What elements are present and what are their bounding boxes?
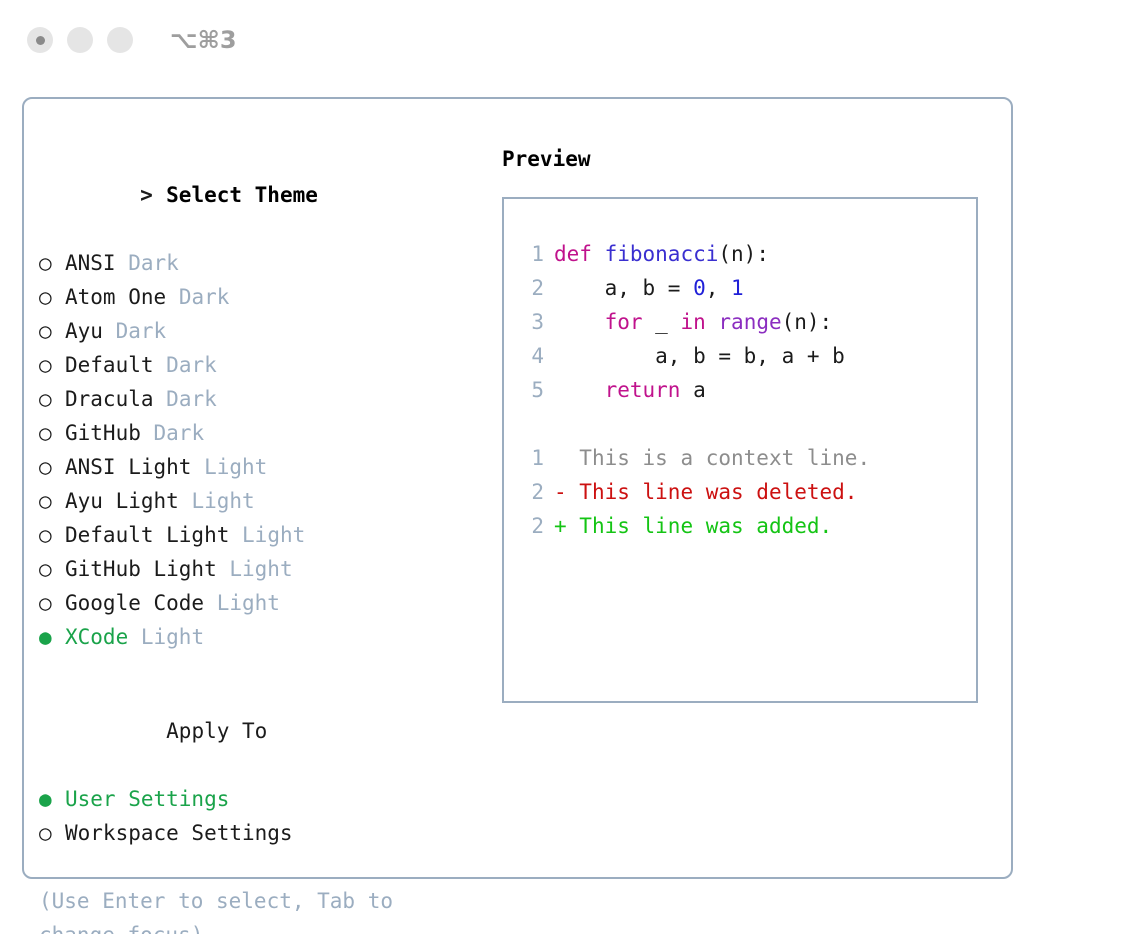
theme-kind-label: Light <box>204 455 267 479</box>
code-token: range <box>718 310 781 334</box>
diff-marker-icon <box>554 446 567 470</box>
radio-unselected-icon: ○ <box>39 382 65 416</box>
theme-kind-label: Dark <box>179 285 230 309</box>
code-token: def <box>554 242 592 266</box>
radio-unselected-icon: ○ <box>39 314 65 348</box>
radio-unselected-icon: ○ <box>39 246 65 280</box>
window-light-third-icon[interactable] <box>107 27 133 53</box>
radio-unselected-icon: ○ <box>39 586 65 620</box>
diff-marker-icon: - <box>554 480 567 504</box>
theme-label-gap <box>141 421 154 445</box>
code-token: (n): <box>718 242 769 266</box>
theme-list-item[interactable]: ○Dracula Dark <box>39 382 489 416</box>
code-token: a, b = <box>554 276 693 300</box>
theme-name-label: Google Code <box>65 591 204 615</box>
code-token: return <box>605 378 681 402</box>
code-token: for <box>605 310 643 334</box>
code-sample: 1def fibonacci(n):2 a, b = 0, 13 for _ i… <box>504 237 976 407</box>
theme-kind-label: Dark <box>166 353 217 377</box>
theme-name-label: Ayu <box>65 319 103 343</box>
theme-kind-label: Light <box>229 557 292 581</box>
window-light-second-icon[interactable] <box>67 27 93 53</box>
apply-to-list: ●User Settings○Workspace Settings <box>39 782 489 850</box>
diff-sample: 1 This is a context line.2- This line wa… <box>504 441 976 543</box>
preview-box: 1def fibonacci(n):2 a, b = 0, 13 for _ i… <box>502 197 978 703</box>
theme-label-gap <box>166 285 179 309</box>
theme-kind-label: Light <box>191 489 254 513</box>
apply-to-name-label: Workspace Settings <box>65 821 293 845</box>
radio-unselected-icon: ○ <box>39 280 65 314</box>
theme-kind-label: Light <box>141 625 204 649</box>
code-token: in <box>680 310 705 334</box>
radio-unselected-icon: ○ <box>39 348 65 382</box>
diff-line-number: 2 <box>518 475 544 509</box>
diff-line: 1 This is a context line. <box>504 441 976 475</box>
code-line: 3 for _ in range(n): <box>504 305 976 339</box>
code-token <box>706 310 719 334</box>
theme-label-gap <box>217 557 230 581</box>
code-diff-spacer <box>504 407 976 441</box>
diff-line-text: This line was deleted. <box>567 480 858 504</box>
diff-line-number: 2 <box>518 509 544 543</box>
theme-picker-column: >Select Theme ○ANSI Dark○Atom One Dark○A… <box>39 144 489 934</box>
main-panel: >Select Theme ○ANSI Dark○Atom One Dark○A… <box>22 97 1013 879</box>
code-line: 4 a, b = b, a + b <box>504 339 976 373</box>
theme-label-gap <box>154 387 167 411</box>
code-token: 0 <box>693 276 706 300</box>
theme-name-label: ANSI Light <box>65 455 191 479</box>
theme-list-item[interactable]: ○Default Dark <box>39 348 489 382</box>
select-theme-heading: >Select Theme <box>39 144 489 246</box>
code-token: a, b = b, a + b <box>554 344 845 368</box>
keyboard-hint-text: (Use Enter to select, Tab to change focu… <box>39 884 459 934</box>
theme-label-gap <box>103 319 116 343</box>
code-line-number: 5 <box>518 373 544 407</box>
window-light-active-icon[interactable] <box>27 27 53 53</box>
theme-list: ○ANSI Dark○Atom One Dark○Ayu Dark○Defaul… <box>39 246 489 654</box>
diff-marker-icon: + <box>554 514 567 538</box>
code-line-number: 4 <box>518 339 544 373</box>
diff-line: 2- This line was deleted. <box>504 475 976 509</box>
code-line: 1def fibonacci(n): <box>504 237 976 271</box>
theme-label-gap <box>128 625 141 649</box>
code-token: _ <box>643 310 681 334</box>
diff-line: 2+ This line was added. <box>504 509 976 543</box>
code-token <box>554 378 605 402</box>
theme-name-label: GitHub <box>65 421 141 445</box>
theme-label-gap <box>179 489 192 513</box>
apply-to-heading-label: Apply To <box>166 719 267 743</box>
section-spacer <box>39 654 489 680</box>
code-line-number: 3 <box>518 305 544 339</box>
theme-list-item[interactable]: ○ANSI Light Light <box>39 450 489 484</box>
theme-name-label: Dracula <box>65 387 154 411</box>
radio-unselected-icon: ○ <box>39 416 65 450</box>
hint-spacer <box>39 850 489 884</box>
window-light-dot-icon <box>36 36 45 45</box>
theme-name-label: Atom One <box>65 285 166 309</box>
theme-name-label: ANSI <box>65 251 116 275</box>
code-line-number: 1 <box>518 237 544 271</box>
theme-kind-label: Dark <box>166 387 217 411</box>
theme-kind-label: Light <box>242 523 305 547</box>
radio-unselected-icon: ○ <box>39 816 65 850</box>
window-controls <box>27 27 133 53</box>
theme-list-item[interactable]: ○ANSI Dark <box>39 246 489 280</box>
theme-label-gap <box>204 591 217 615</box>
radio-unselected-icon: ○ <box>39 484 65 518</box>
theme-name-label: Ayu Light <box>65 489 179 513</box>
apply-to-marker-icon <box>140 714 166 748</box>
theme-list-item[interactable]: ●XCode Light <box>39 620 489 654</box>
theme-list-item[interactable]: ○GitHub Dark <box>39 416 489 450</box>
theme-list-item[interactable]: ○Ayu Light Light <box>39 484 489 518</box>
theme-kind-label: Dark <box>154 421 205 445</box>
code-line: 2 a, b = 0, 1 <box>504 271 976 305</box>
theme-name-label: Default Light <box>65 523 229 547</box>
code-token: a <box>680 378 705 402</box>
theme-name-label: XCode <box>65 625 128 649</box>
theme-list-item[interactable]: ○GitHub Light Light <box>39 552 489 586</box>
radio-unselected-icon: ○ <box>39 552 65 586</box>
theme-name-label: GitHub Light <box>65 557 217 581</box>
code-token <box>554 310 605 334</box>
diff-line-text: This is a context line. <box>567 446 870 470</box>
theme-label-gap <box>191 455 204 479</box>
theme-label-gap <box>116 251 129 275</box>
apply-to-list-item[interactable]: ○Workspace Settings <box>39 816 489 850</box>
apply-to-heading: Apply To <box>39 680 489 782</box>
diff-line-number: 1 <box>518 441 544 475</box>
prompt-caret-icon: > <box>140 178 166 212</box>
apply-to-list-item[interactable]: ●User Settings <box>39 782 489 816</box>
code-token: , <box>706 276 731 300</box>
theme-list-item[interactable]: ○Atom One Dark <box>39 280 489 314</box>
radio-selected-icon: ● <box>39 620 65 654</box>
radio-selected-icon: ● <box>39 782 65 816</box>
preview-column: Preview 1def fibonacci(n):2 a, b = 0, 13… <box>502 144 992 703</box>
code-token: fibonacci <box>605 242 719 266</box>
theme-list-item[interactable]: ○Ayu Dark <box>39 314 489 348</box>
theme-kind-label: Dark <box>128 251 179 275</box>
select-theme-heading-label: Select Theme <box>166 183 318 207</box>
radio-unselected-icon: ○ <box>39 450 65 484</box>
code-token: (n): <box>782 310 833 334</box>
theme-kind-label: Light <box>217 591 280 615</box>
theme-kind-label: Dark <box>116 319 167 343</box>
code-line-number: 2 <box>518 271 544 305</box>
title-bar: ⌥⌘3 <box>0 0 1140 80</box>
theme-list-item[interactable]: ○Default Light Light <box>39 518 489 552</box>
theme-name-label: Default <box>65 353 154 377</box>
keyboard-shortcut-label: ⌥⌘3 <box>170 26 237 54</box>
apply-to-name-label: User Settings <box>65 787 229 811</box>
diff-line-text: This line was added. <box>567 514 833 538</box>
code-token <box>592 242 605 266</box>
theme-label-gap <box>154 353 167 377</box>
theme-list-item[interactable]: ○Google Code Light <box>39 586 489 620</box>
app-window: ⌥⌘3 >Select Theme ○ANSI Dark○Atom One Da… <box>0 0 1140 934</box>
preview-heading: Preview <box>502 144 992 174</box>
code-line: 5 return a <box>504 373 976 407</box>
code-token: 1 <box>731 276 744 300</box>
theme-label-gap <box>229 523 242 547</box>
radio-unselected-icon: ○ <box>39 518 65 552</box>
